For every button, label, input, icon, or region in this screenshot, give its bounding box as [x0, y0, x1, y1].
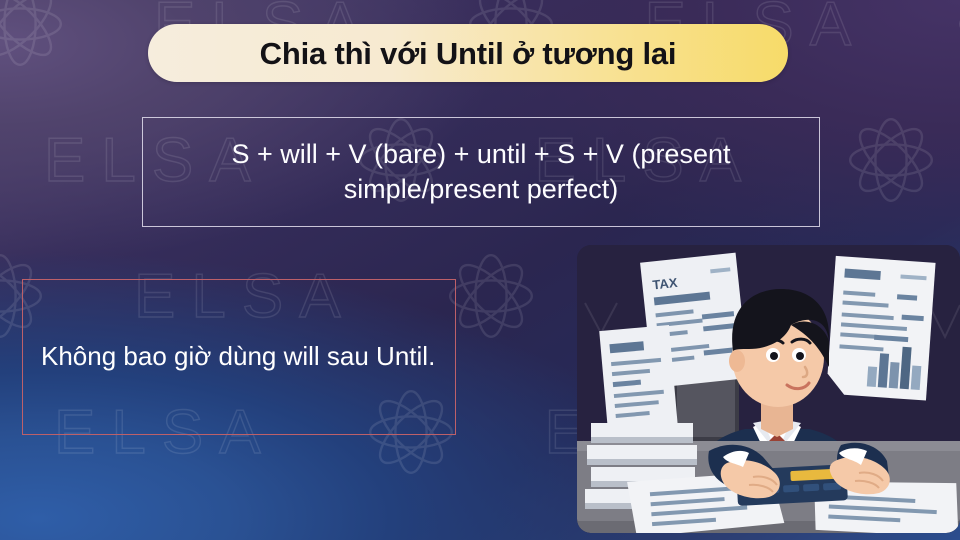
grammar-formula-box: S + will + V (bare) + until + S + V (pre… — [142, 117, 820, 227]
tax-document-label: TAX — [652, 275, 679, 293]
grammar-formula-text: S + will + V (bare) + until + S + V (pre… — [157, 137, 805, 207]
star-motif-icon — [941, 0, 960, 84]
grammar-note-box: Không bao giờ dùng will sau Until. — [22, 279, 456, 435]
grammar-note-text: Không bao giờ dùng will sau Until. — [41, 337, 437, 377]
slide-canvas: ELSA ELSA — [0, 0, 960, 540]
slide-title-text: Chia thì với Until ở tương lai — [260, 38, 677, 69]
businessman-with-tax-documents-icon: TAX — [577, 245, 960, 533]
businessman-illustration-card: TAX — [577, 245, 960, 533]
star-motif-icon — [0, 0, 80, 84]
slide-title-pill: Chia thì với Until ở tương lai — [148, 24, 788, 82]
star-motif-icon — [831, 100, 951, 220]
